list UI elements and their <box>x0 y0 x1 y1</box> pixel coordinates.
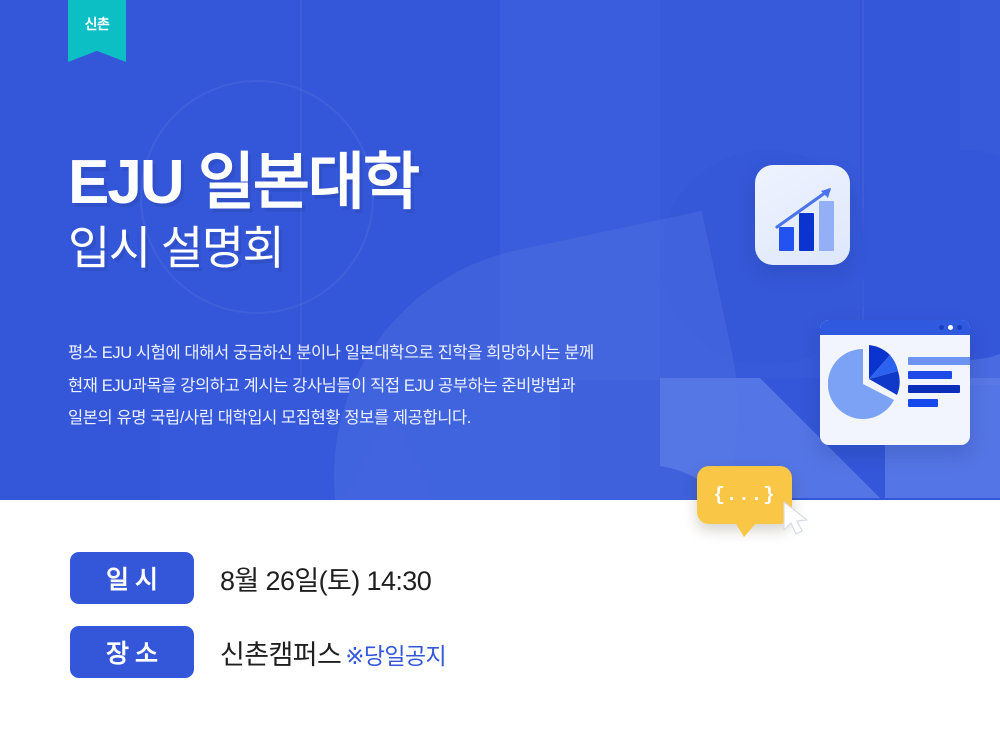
headline-primary: EJU 일본대학 <box>68 152 418 214</box>
window-dot-icon <box>939 325 944 330</box>
legend-bar <box>908 399 938 407</box>
info-value-date-text: 8월 26일(토) 14:30 <box>220 559 431 598</box>
bar-chart-growth-icon <box>755 165 850 265</box>
description-block: 평소 EJU 시험에 대해서 궁금하신 분이나 일본대학으로 진학을 희망하시는… <box>68 340 594 438</box>
campus-ribbon-badge: 신촌 <box>68 0 126 62</box>
info-value-date: 8월 26일(토) 14:30 <box>220 559 431 598</box>
speech-bubble-text: {...} <box>713 484 775 506</box>
info-tag-place: 장소 <box>70 626 194 678</box>
headline-secondary: 입시 설명회 <box>68 222 418 275</box>
description-line: 평소 EJU 시험에 대해서 궁금하신 분이나 일본대학으로 진학을 희망하시는… <box>68 340 594 367</box>
description-line: 현재 EJU과목을 강의하고 계시는 강사님들이 직접 EJU 공부하는 준비방… <box>68 373 594 400</box>
event-info-block: 일시 8월 26일(토) 14:30 장소 신촌캠퍼스 ※당일공지 <box>70 552 446 700</box>
info-row-date: 일시 8월 26일(토) 14:30 <box>70 552 446 604</box>
window-dot-icon <box>948 325 953 330</box>
code-speech-bubble: {...} <box>697 466 792 524</box>
pie-chart-graphic <box>828 343 906 423</box>
headline-block: EJU 일본대학 입시 설명회 <box>68 152 418 275</box>
info-tag-date: 일시 <box>70 552 194 604</box>
window-dot-icon <box>957 325 962 330</box>
description-line: 일본의 유명 국립/사립 대학입시 모집현황 정보를 제공합니다. <box>68 405 594 432</box>
info-value-place: 신촌캠퍼스 ※당일공지 <box>220 633 446 672</box>
speech-bubble-body: {...} <box>697 466 792 524</box>
info-value-place-note: ※당일공지 <box>345 637 446 671</box>
bg-rect-shape <box>960 0 1000 225</box>
legend-bar <box>908 357 970 365</box>
promo-banner: 신촌 EJU 일본대학 입시 설명회 평소 EJU 시험에 대해서 궁금하신 분… <box>0 0 1000 751</box>
info-value-place-text: 신촌캠퍼스 <box>220 633 341 672</box>
legend-bar <box>908 371 952 379</box>
window-titlebar <box>820 320 970 335</box>
window-content <box>820 335 970 445</box>
pie-chart-window-icon <box>820 320 970 445</box>
hero-panel: 신촌 EJU 일본대학 입시 설명회 평소 EJU 시험에 대해서 궁금하신 분… <box>0 0 1000 500</box>
pie-legend <box>908 357 970 413</box>
bg-rect-shape <box>500 0 660 380</box>
mouse-cursor-icon <box>780 500 814 538</box>
legend-bar <box>908 385 960 393</box>
info-row-place: 장소 신촌캠퍼스 ※당일공지 <box>70 626 446 678</box>
campus-ribbon-label: 신촌 <box>85 14 110 34</box>
